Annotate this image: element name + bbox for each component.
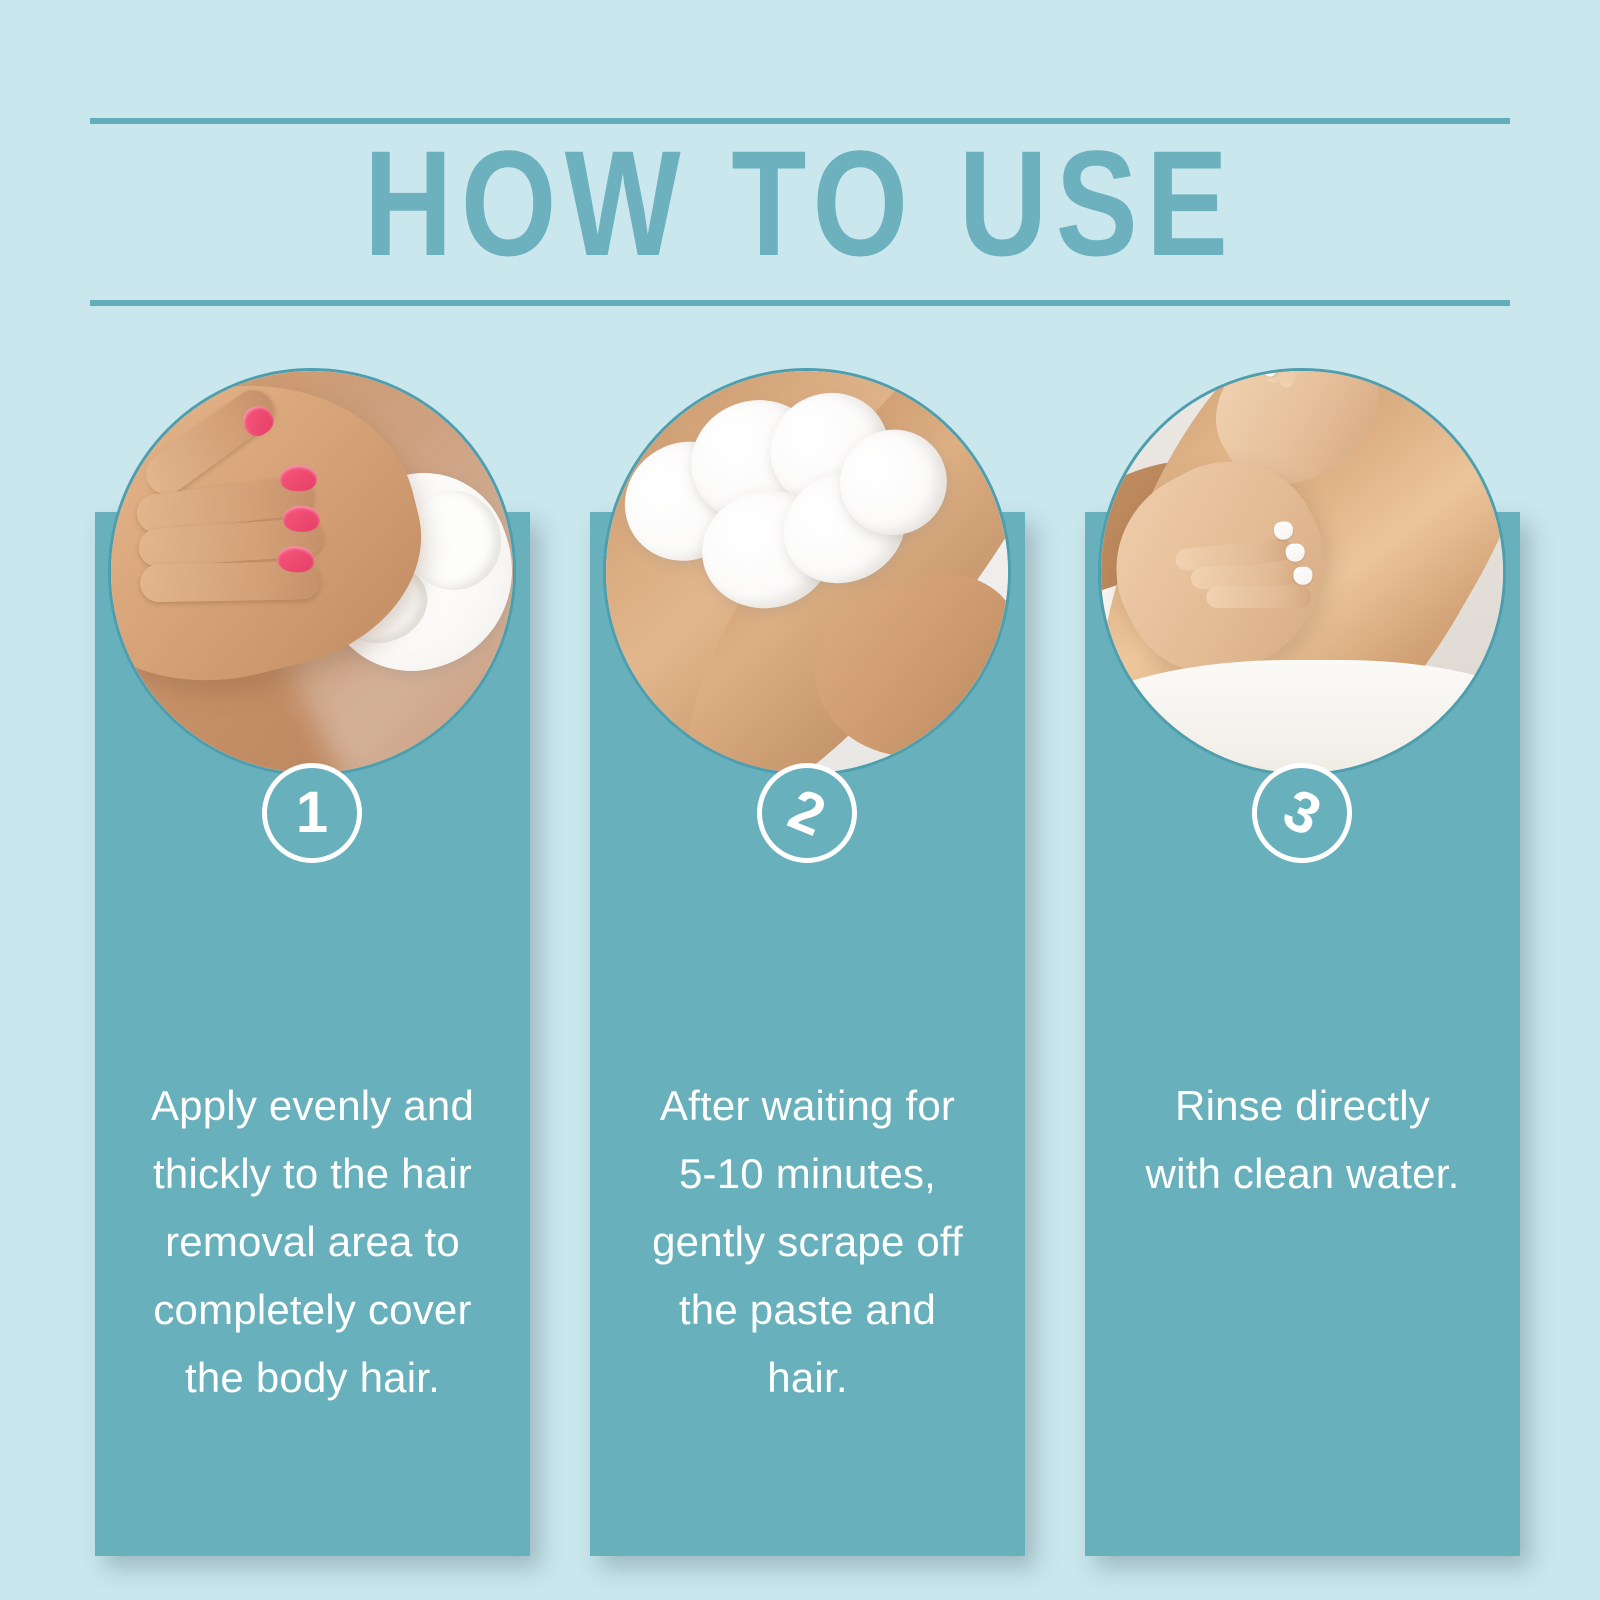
french-manicure-nail bbox=[1293, 567, 1312, 585]
photo-smooth-legs-with-hand bbox=[1101, 371, 1503, 773]
steps-container: Apply evenly and thickly to the hair rem… bbox=[95, 368, 1520, 1558]
towel-base bbox=[1101, 660, 1503, 773]
finger bbox=[1277, 371, 1321, 390]
step-description-1: Apply evenly and thickly to the hair rem… bbox=[111, 1072, 514, 1412]
french-manicure-nail bbox=[1285, 543, 1304, 562]
nail-middle bbox=[282, 505, 320, 532]
step-description-3: Rinse directly with clean water. bbox=[1101, 1072, 1504, 1208]
step-description-2: After waiting for 5-10 minutes, gently s… bbox=[606, 1072, 1009, 1412]
page-title-text: HOW TO USE bbox=[364, 128, 1236, 278]
page-title: HOW TO USE bbox=[90, 134, 1510, 284]
step-number-badge-1: 1 bbox=[262, 763, 362, 863]
header-rule-bottom bbox=[90, 300, 1510, 306]
photo-hand-applying-cream-to-arm bbox=[111, 371, 513, 773]
header: HOW TO USE bbox=[90, 118, 1510, 306]
french-manicure-nail bbox=[1247, 371, 1264, 373]
photo-cream-on-leg-and-foot bbox=[606, 371, 1008, 773]
step-photo-1 bbox=[108, 368, 516, 776]
finger bbox=[1206, 586, 1311, 608]
nail-index bbox=[280, 465, 317, 491]
step-photo-3 bbox=[1098, 368, 1506, 776]
step-photo-2 bbox=[603, 368, 1011, 776]
